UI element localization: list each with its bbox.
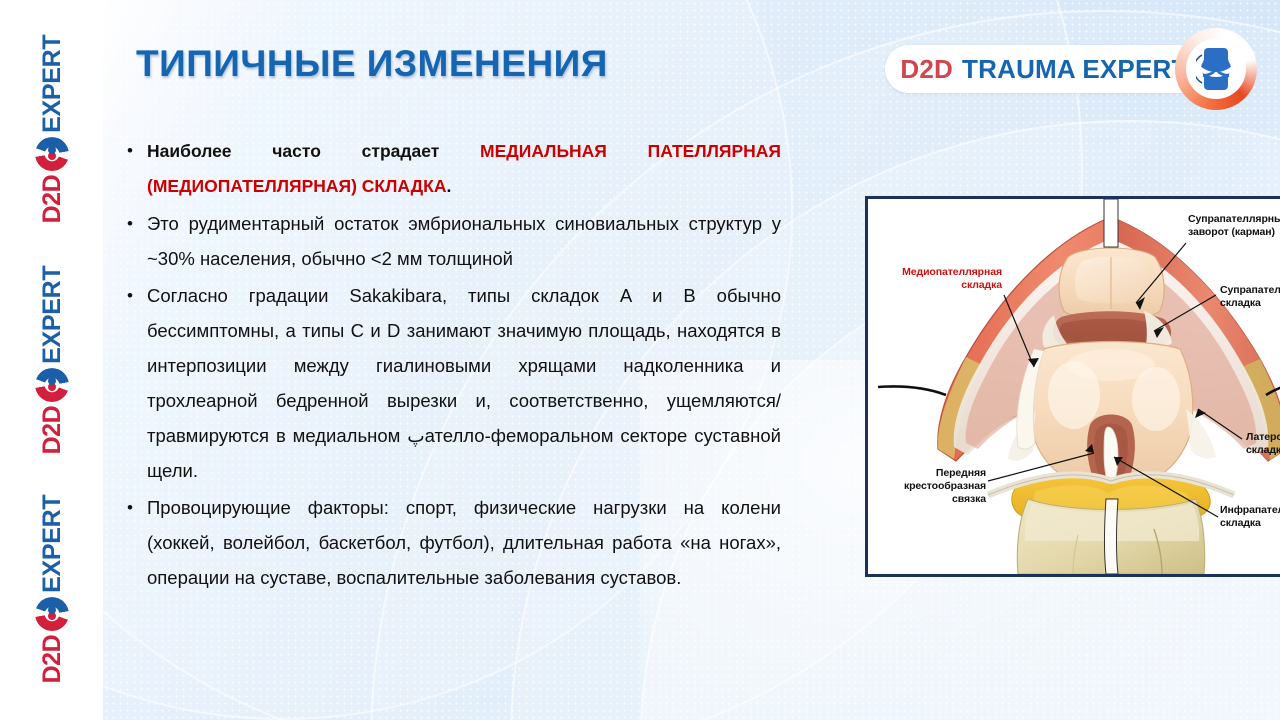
bullet-item: •Наиболее часто страдает МЕДИАЛЬНАЯ ПАТЕ…	[121, 134, 781, 204]
bullet-marker: •	[121, 278, 147, 488]
rail-logo-d2d: D2D	[39, 635, 64, 684]
figure-label-suprapatellar-fold: Супрапателлярная складка	[1220, 284, 1280, 310]
slide-root: ТИПИЧНЫЕ ИЗМЕНЕНИЯ •Наиболее часто страд…	[0, 0, 1280, 720]
bullet-list: •Наиболее часто страдает МЕДИАЛЬНАЯ ПАТЕ…	[121, 134, 781, 597]
product-name: TRAUMA EXPERT	[962, 54, 1188, 85]
d2d-mark-icon	[35, 597, 69, 631]
bullet-text: Согласно градации Sakakibara, типы склад…	[147, 278, 781, 488]
brand-badge[interactable]: D2D TRAUMA EXPERT	[885, 41, 1257, 97]
figure-label-acl: Передняя крестообразная связка	[876, 467, 986, 506]
rail-logo-3: D2D EXPERT	[29, 494, 75, 684]
bullet-segment: Провоцирующие факторы: спорт, физические…	[147, 497, 781, 588]
bullet-item: •Это рудиментарный остаток эмбриональных…	[121, 206, 781, 276]
figure-label-infrapatellar-fold: Инфрапателлярная складка	[1220, 504, 1280, 530]
page-title: ТИПИЧНЫЕ ИЗМЕНЕНИЯ	[136, 43, 608, 85]
anatomy-illustration: Супрапателлярный заворот (карман) Супрап…	[868, 199, 1280, 574]
rail-logo-2: D2D EXPERT	[29, 265, 75, 455]
figure-label-lateropatellar-fold: Латеропателлярная складка	[1246, 431, 1280, 457]
bullet-text: Наиболее часто страдает МЕДИАЛЬНАЯ ПАТЕЛ…	[147, 134, 781, 204]
d2d-mark-icon	[35, 137, 69, 171]
rail-logo-d2d: D2D	[39, 406, 64, 455]
figure-label-suprapatellar-pocket: Супрапателлярный заворот (карман)	[1188, 213, 1280, 239]
bullet-marker: •	[121, 134, 147, 204]
bullet-segment: Согласно градации Sakakibara, типы склад…	[147, 285, 781, 481]
brand-name: D2D	[900, 54, 953, 85]
rail-logo-expert: EXPERT	[39, 495, 64, 593]
rail-logo-expert: EXPERT	[39, 35, 64, 133]
bullet-text: Провоцирующие факторы: спорт, физические…	[147, 490, 781, 595]
bullet-marker: •	[121, 206, 147, 276]
figure-label-mediopatellar-fold: Медиопателлярная складка	[874, 266, 1002, 292]
rail-logo-1: D2D EXPERT	[29, 34, 75, 224]
d2d-mark-icon	[35, 368, 69, 402]
brand-ring	[1175, 28, 1257, 110]
bullet-item: •Провоцирующие факторы: спорт, физически…	[121, 490, 781, 595]
anatomy-figure: Супрапателлярный заворот (карман) Супрап…	[865, 196, 1280, 577]
bullet-segment: Это рудиментарный остаток эмбриональных …	[147, 213, 781, 269]
bullet-segment: .	[446, 176, 451, 196]
rail-logo-expert: EXPERT	[39, 266, 64, 364]
knee-anatomy-svg	[868, 199, 1280, 574]
bullet-marker: •	[121, 490, 147, 595]
bullet-text: Это рудиментарный остаток эмбриональных …	[147, 206, 781, 276]
slide-background: ТИПИЧНЫЕ ИЗМЕНЕНИЯ •Наиболее часто страд…	[103, 0, 1280, 720]
sidebar-rail: D2D EXPERT D2D EXPERT D2D EXPERT	[0, 0, 103, 720]
bullet-segment: Наиболее часто страдает	[147, 141, 480, 161]
rail-logo-d2d: D2D	[39, 175, 64, 224]
brand-badge-pill: D2D TRAUMA EXPERT	[885, 45, 1203, 93]
bullet-item: •Согласно градации Sakakibara, типы скла…	[121, 278, 781, 488]
knee-joint-icon	[1196, 46, 1236, 92]
